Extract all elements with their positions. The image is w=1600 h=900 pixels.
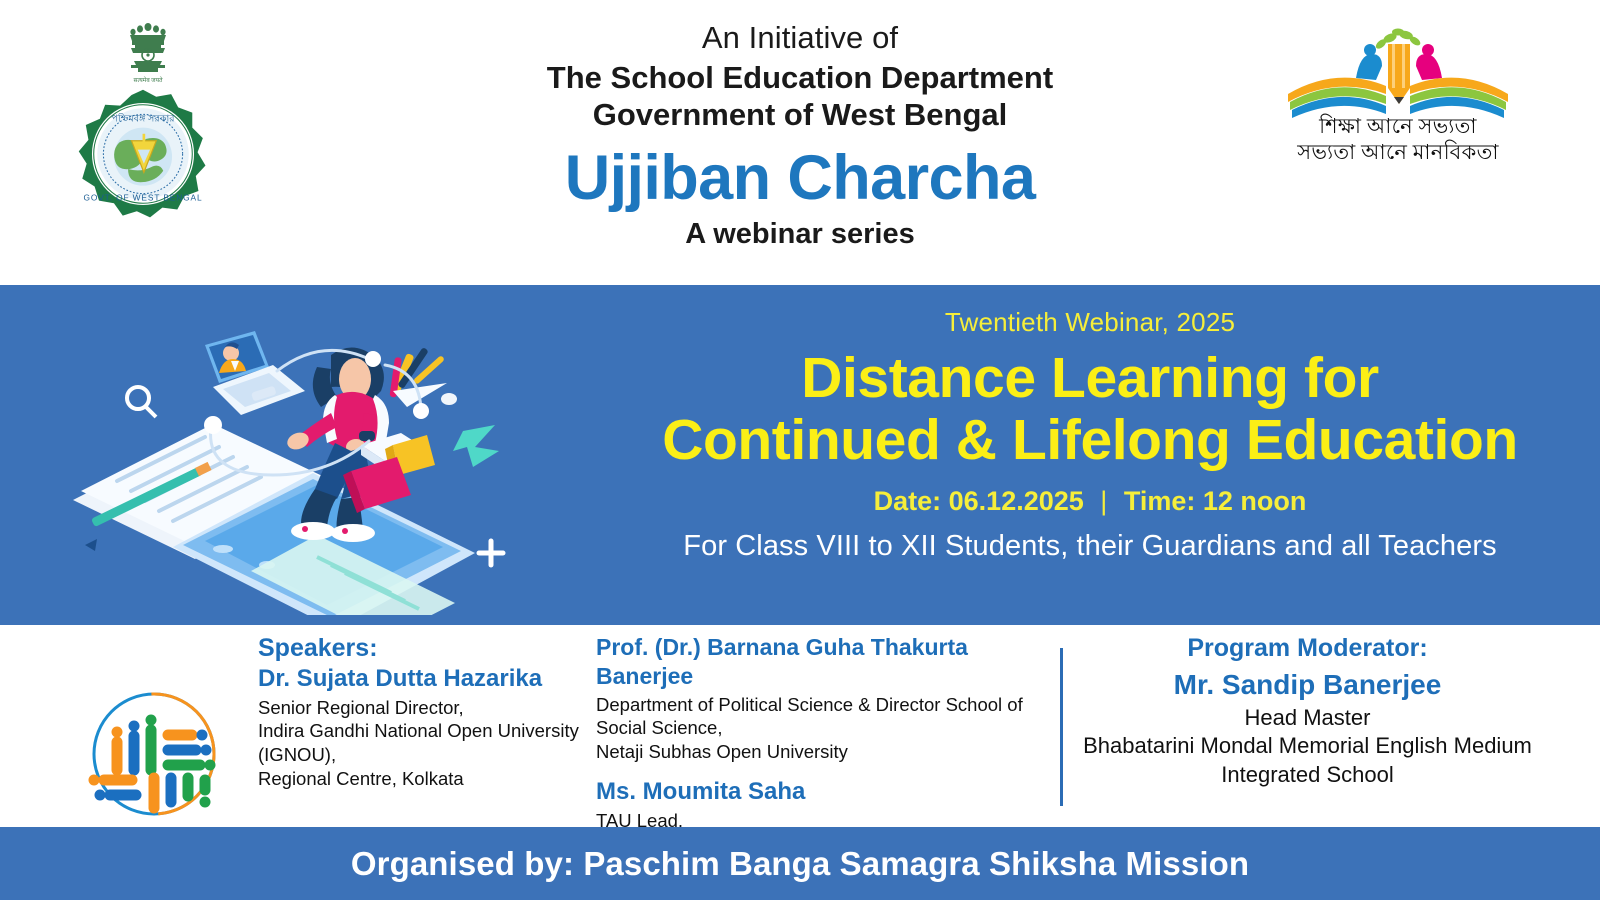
program-subtitle: A webinar series — [400, 218, 1200, 251]
speaker-name: Prof. (Dr.) Barnana Guha Thakurta Banerj… — [596, 633, 1046, 691]
west-bengal-seal-icon: পশ্চিমবঙ্গ সরকার GOVT. OF WEST BENGAL — [68, 88, 218, 220]
speaker-name: Ms. Moumita Saha — [596, 777, 1046, 807]
moderator-affiliation: Head Master Bhabatarini Mondal Memorial … — [1075, 704, 1540, 790]
government-name: Government of West Bengal — [400, 96, 1200, 133]
hero-band: Twentieth Webinar, 2025 Distance Learnin… — [0, 285, 1600, 625]
speakers-column-secondary: Prof. (Dr.) Barnana Guha Thakurta Banerj… — [596, 633, 1046, 856]
logo-tagline-line2: সভ্যতা আনে মানবিকতা — [1278, 140, 1518, 166]
moderator-school-line1: Bhabatarini Mondal Memorial English Medi… — [1075, 732, 1540, 761]
webinar-title-line1: Distance Learning for — [620, 347, 1560, 409]
moderator-school-line2: Integrated School — [1075, 761, 1540, 790]
govt-of-west-bengal-emblem: सत्यमेव जयते — [68, 18, 228, 223]
spacer — [596, 764, 1046, 777]
target-audience: For Class VIII to XII Students, their Gu… — [620, 530, 1560, 563]
samagra-shiksha-mission-logo — [70, 690, 238, 818]
logo-tagline: শিক্ষা আনে সভ্যতা সভ্যতা আনে মানবিকতা — [1278, 114, 1518, 165]
schedule-row: Date: 06.12.2025 | Time: 12 noon — [620, 486, 1560, 517]
speaker-entry: Dr. Sujata Dutta Hazarika Senior Regiona… — [258, 664, 588, 791]
webinar-number: Twentieth Webinar, 2025 — [620, 307, 1560, 338]
organised-by-text: Organised by: Paschim Banga Samagra Shik… — [351, 845, 1249, 883]
page-title: Ujjiban Charcha — [400, 145, 1200, 212]
event-time: Time: 12 noon — [1124, 486, 1307, 516]
speakers-column-primary: Speakers: Dr. Sujata Dutta Hazarika Seni… — [258, 633, 588, 790]
event-date: Date: 06.12.2025 — [874, 486, 1084, 516]
poster-header: सत्यमेव जयते — [0, 0, 1600, 285]
logo-tagline-line1: শিক্ষা আনে সভ্যতা — [1278, 114, 1518, 140]
webinar-title: Distance Learning for Continued & Lifelo… — [620, 347, 1560, 471]
moderator-designation: Head Master — [1075, 704, 1540, 733]
speakers-heading: Speakers: — [258, 633, 588, 664]
speaker-affiliation-line2: Indira Gandhi National Open University (… — [258, 719, 588, 766]
shiksha-ane-sabhyata-logo: শিক্ষা আনে সভ্যতা সভ্যতা আনে মানবিকতা — [1278, 22, 1518, 162]
online-learning-illustration — [55, 295, 535, 615]
moderator-column: Program Moderator: Mr. Sandip Banerjee H… — [1075, 633, 1540, 789]
speaker-affiliation-line1: Senior Regional Director, — [258, 696, 588, 720]
ashoka-pillar-icon: सत्यमेव जयते — [118, 18, 178, 90]
speaker-entry: Prof. (Dr.) Barnana Guha Thakurta Banerj… — [596, 633, 1046, 764]
ashoka-motto-text: सत्यमेव जयते — [133, 76, 163, 84]
webinar-poster: सत्यमेव जयते — [0, 0, 1600, 900]
schedule-separator: | — [1091, 486, 1116, 516]
initiative-label: An Initiative of — [400, 20, 1200, 56]
moderator-name: Mr. Sandip Banerjee — [1075, 669, 1540, 701]
webinar-title-line2: Continued & Lifelong Education — [620, 409, 1560, 471]
moderator-heading: Program Moderator: — [1075, 633, 1540, 664]
hero-text-block: Twentieth Webinar, 2025 Distance Learnin… — [620, 307, 1560, 563]
speaker-affiliation-line3: Regional Centre, Kolkata — [258, 767, 588, 791]
speaker-affiliation: Department of Political Science & Direct… — [596, 693, 1046, 764]
moderator-divider — [1060, 648, 1063, 806]
speaker-affiliation: Senior Regional Director, Indira Gandhi … — [258, 696, 588, 791]
seal-english-text: GOVT. OF WEST BENGAL — [84, 193, 203, 203]
poster-footer: Organised by: Paschim Banga Samagra Shik… — [0, 827, 1600, 900]
seal-bengali-text: পশ্চিমবঙ্গ সরকার — [111, 112, 175, 124]
department-name: The School Education Department — [400, 59, 1200, 96]
speaker-name: Dr. Sujata Dutta Hazarika — [258, 664, 588, 694]
header-center-block: An Initiative of The School Education De… — [400, 20, 1200, 251]
open-book-pencil-icon — [1278, 22, 1518, 122]
speaker-affiliation-line1: Department of Political Science & Direct… — [596, 693, 1046, 740]
speaker-affiliation-line2: Netaji Subhas Open University — [596, 740, 1046, 764]
